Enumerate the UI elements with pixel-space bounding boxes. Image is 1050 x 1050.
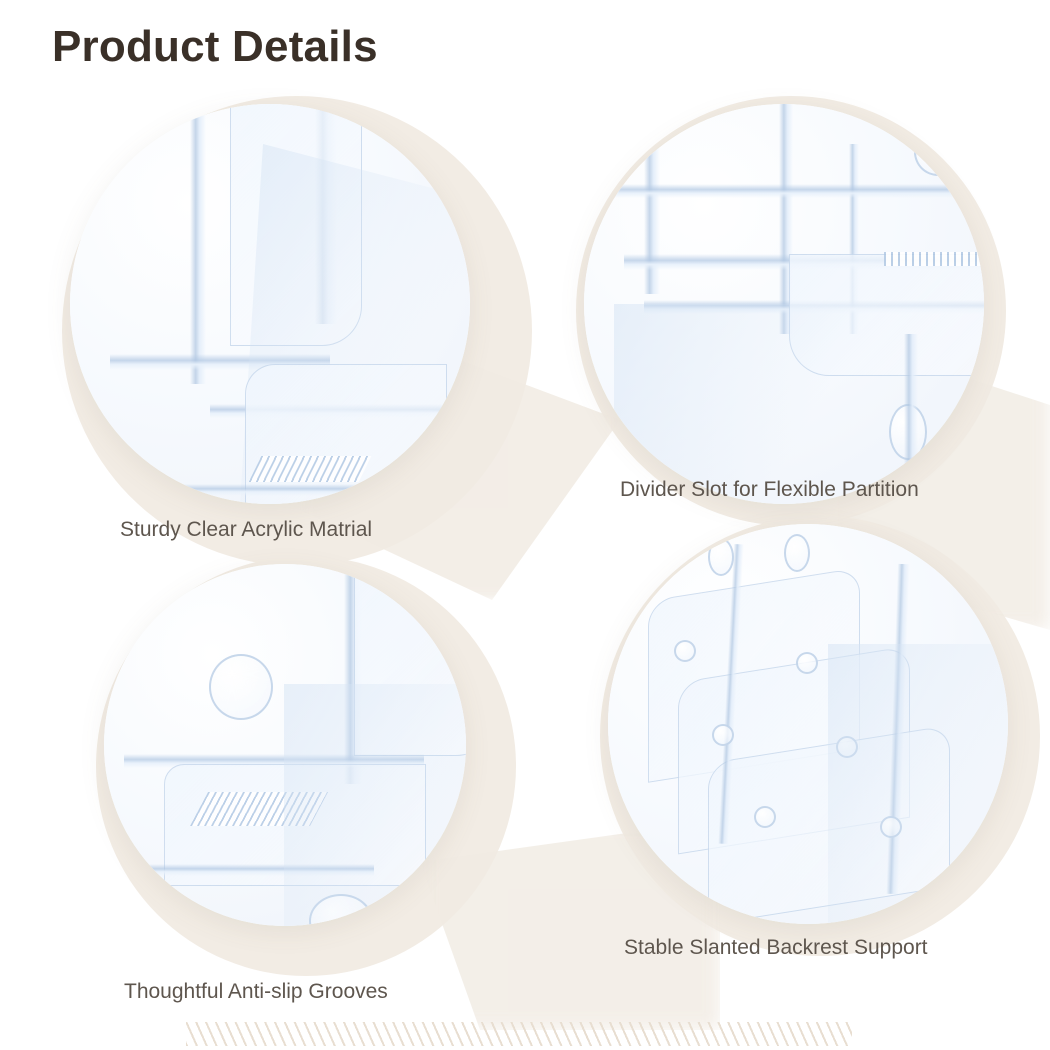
hatch-decoration	[186, 1022, 852, 1046]
detail-image-4	[608, 524, 1008, 924]
detail-caption-3: Thoughtful Anti-slip Grooves	[124, 980, 388, 1004]
detail-image-1	[70, 104, 470, 504]
acrylic-shadow	[614, 304, 874, 504]
acrylic-shadow	[284, 684, 466, 926]
acrylic-horizontal-edge	[584, 184, 984, 198]
detail-caption-1: Sturdy Clear Acrylic Matrial	[120, 518, 372, 542]
mounting-hole	[754, 806, 776, 828]
detail-image-3	[104, 564, 466, 926]
mounting-hole	[209, 654, 273, 720]
detail-caption-4: Stable Slanted Backrest Support	[624, 936, 928, 960]
anti-slip-grooves	[249, 456, 372, 482]
acrylic-vertical-edge	[190, 104, 206, 384]
mounting-hole	[914, 128, 962, 176]
acrylic-panel	[245, 364, 447, 504]
detail-image-2	[584, 104, 984, 504]
mounting-hole	[784, 534, 810, 572]
acrylic-horizontal-edge	[170, 484, 370, 496]
mounting-hole	[712, 724, 734, 746]
mounting-hole	[674, 640, 696, 662]
mounting-hole	[708, 538, 734, 576]
page-title: Product Details	[52, 22, 378, 72]
anti-slip-grooves	[884, 252, 984, 266]
detail-caption-2: Divider Slot for Flexible Partition	[620, 478, 919, 502]
acrylic-shadow	[828, 644, 1008, 924]
mounting-hole	[796, 652, 818, 674]
